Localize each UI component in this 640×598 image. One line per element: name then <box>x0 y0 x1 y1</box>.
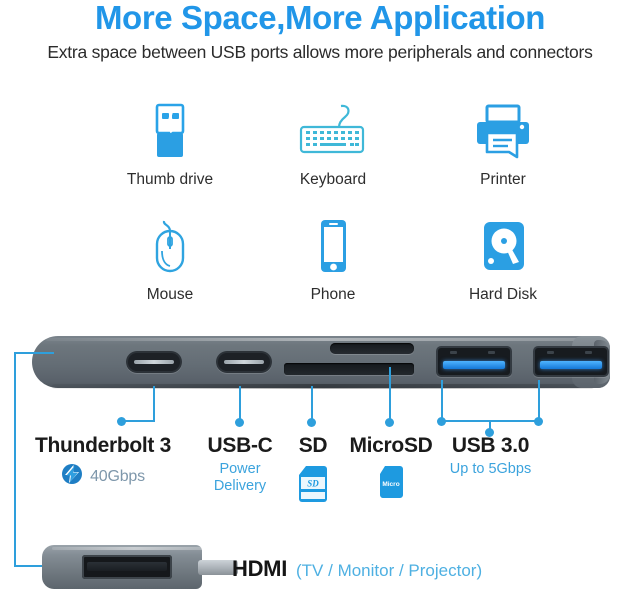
printer-icon <box>428 100 578 162</box>
label-sub-line1: Power <box>190 461 290 478</box>
peripheral-label: Phone <box>258 286 408 304</box>
thunderbolt-speed: 40Gbps <box>90 468 145 486</box>
leader-usb3-right-vertical <box>538 380 540 422</box>
keyboard-icon <box>258 100 408 162</box>
leader-usb3-left-vertical <box>441 380 443 422</box>
label-name: MicroSD <box>339 434 443 458</box>
leader-usbc-vertical <box>239 386 241 422</box>
peripheral-label: Mouse <box>95 286 245 304</box>
label-usb-3-0: USB 3.0 Up to 5Gbps <box>433 434 548 478</box>
leader-thunderbolt-vertical <box>153 386 155 422</box>
leader-usb3-left-dot <box>437 417 446 426</box>
hdmi-top-highlight <box>52 547 216 550</box>
peripheral-label: Hard Disk <box>428 286 578 304</box>
peripheral-phone: Phone <box>258 215 408 304</box>
sd-card-icon: SD <box>283 465 343 508</box>
thunderbolt-icon <box>61 463 83 490</box>
hub-body <box>32 336 610 388</box>
leader-thunderbolt-horizontal <box>122 420 155 422</box>
port-usb-3-0-first <box>438 348 510 375</box>
label-name: SD <box>283 434 343 458</box>
peripheral-mouse: Mouse <box>95 215 245 304</box>
peripheral-thumb-drive: Thumb drive <box>95 100 245 189</box>
port-nub <box>585 351 592 354</box>
hard-disk-icon <box>428 215 578 277</box>
leader-sd-dot <box>307 418 316 427</box>
leader-usb3-right-dot <box>534 417 543 426</box>
port-tongue <box>134 360 174 364</box>
port-nub <box>450 351 457 354</box>
port-microsd-slot <box>330 343 414 354</box>
label-microsd: MicroSD Micro <box>339 434 443 504</box>
hub-bottom-shadow <box>52 384 594 389</box>
port-blue-tongue <box>540 361 602 369</box>
label-sub: Up to 5Gbps <box>433 461 548 478</box>
peripheral-label: Printer <box>428 171 578 189</box>
svg-text:Micro: Micro <box>382 481 399 488</box>
leader-microsd-vertical <box>389 367 391 422</box>
leader-thunderbolt-dot <box>117 417 126 426</box>
svg-text:SD: SD <box>307 479 319 489</box>
port-tongue <box>224 360 264 364</box>
port-usb-3-0-second <box>535 348 607 375</box>
port-sd-slot <box>284 363 414 375</box>
page-subtitle: Extra space between USB ports allows mor… <box>0 40 640 64</box>
label-usb-c: USB-C Power Delivery <box>190 434 290 495</box>
label-name: USB-C <box>190 434 290 458</box>
label-hdmi: HDMI (TV / Monitor / Projector) <box>232 556 482 582</box>
leader-microsd-dot <box>385 418 394 427</box>
usb-thumb-drive-icon <box>95 100 245 162</box>
port-thunderbolt-3 <box>128 353 180 371</box>
label-sub-line2: Delivery <box>190 478 290 495</box>
peripheral-printer: Printer <box>428 100 578 189</box>
mouse-icon <box>95 215 245 277</box>
port-nub <box>488 351 495 354</box>
label-name: HDMI <box>232 556 287 582</box>
page-title: More Space,More Application <box>0 0 640 38</box>
label-thunderbolt-3: Thunderbolt 3 40Gbps <box>14 434 192 490</box>
peripheral-label: Keyboard <box>258 171 408 189</box>
label-sub: (TV / Monitor / Projector) <box>296 561 482 581</box>
port-usb-c <box>218 353 270 371</box>
leader-usbc-dot <box>235 418 244 427</box>
port-hdmi <box>82 555 172 579</box>
leader-bracket-hdmi-top <box>14 352 54 354</box>
peripheral-label: Thumb drive <box>95 171 245 189</box>
leader-sd-vertical <box>311 386 313 422</box>
usb-hub-device <box>32 336 610 388</box>
hdmi-module <box>42 545 224 589</box>
microsd-card-icon: Micro <box>339 465 443 504</box>
peripheral-hard-disk: Hard Disk <box>428 215 578 304</box>
peripheral-keyboard: Keyboard <box>258 100 408 189</box>
port-nub <box>547 351 554 354</box>
label-name: Thunderbolt 3 <box>14 434 192 458</box>
label-name: USB 3.0 <box>433 434 548 458</box>
hub-top-highlight <box>46 338 600 341</box>
label-sd: SD SD <box>283 434 343 508</box>
port-blue-tongue <box>443 361 505 369</box>
smartphone-icon <box>258 215 408 277</box>
thunderbolt-speed-row: 40Gbps <box>14 463 192 490</box>
